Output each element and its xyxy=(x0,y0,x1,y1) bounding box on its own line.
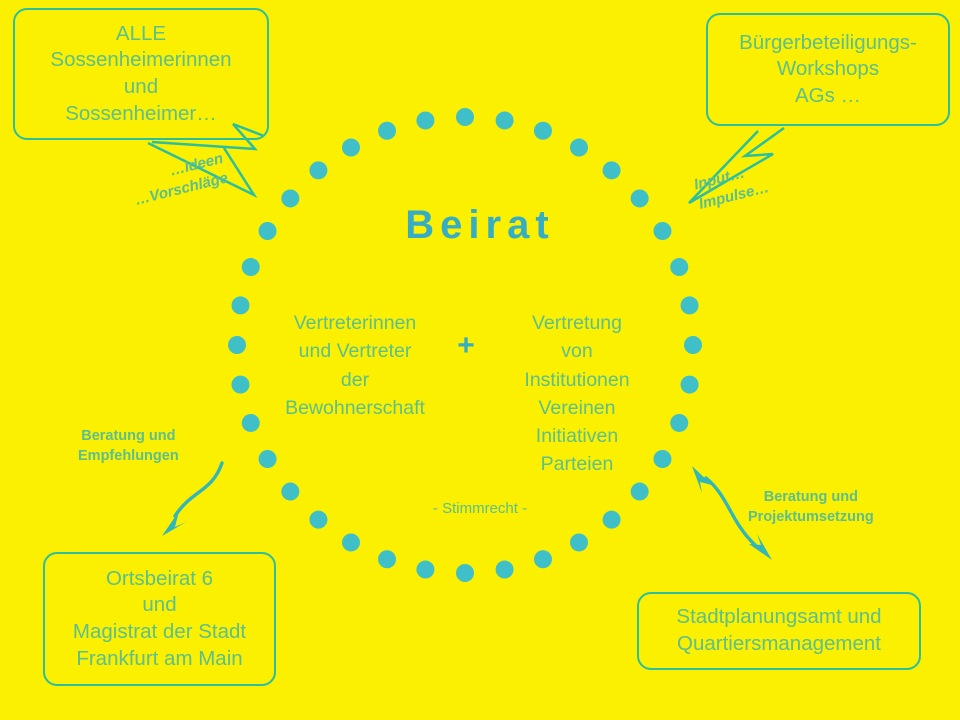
ring-dot xyxy=(378,122,396,140)
ring-dot xyxy=(456,564,474,582)
ring-dot xyxy=(342,139,360,157)
ring-dot xyxy=(281,483,299,501)
label-beratung-projekt-line-1: Beratung und xyxy=(748,488,874,508)
center-right-line-6: Parteien xyxy=(484,450,670,478)
center-right-line-4: Vereinen xyxy=(484,394,670,422)
box-ortsbeirat-line-3: Magistrat der Stadt xyxy=(45,619,274,646)
label-beratung-empfehlungen-line-1: Beratung und xyxy=(78,427,179,447)
label-beratung-empfehlungen: Beratung und Empfehlungen xyxy=(78,427,179,466)
ring-dot xyxy=(496,111,514,129)
center-right-line-5: Initiativen xyxy=(484,422,670,450)
label-beratung-projektumsetzung: Beratung und Projektumsetzung xyxy=(748,488,874,527)
circle-title: Beirat xyxy=(0,203,960,248)
box-stadtplanung-line-1: Stadtplanungsamt und xyxy=(639,604,919,631)
ring-dot xyxy=(456,108,474,126)
center-left-line-3: der xyxy=(262,366,448,394)
ring-dot xyxy=(242,258,260,276)
center-left-line-1: Vertreterinnen xyxy=(262,309,448,337)
ring-dot xyxy=(242,414,260,432)
bubble-citizens-line-2: Sossenheimerinnen xyxy=(15,47,267,74)
bubble-citizens-line-4: Sossenheimer… xyxy=(15,101,267,128)
bubble-citizens-line-3: und xyxy=(15,74,267,101)
ring-dot xyxy=(342,533,360,551)
center-right-line-3: Institutionen xyxy=(484,366,670,394)
beratung-projekt-arrowhead-up xyxy=(692,466,712,493)
diagram-canvas: ALLE Sossenheimerinnen und Sossenheimer…… xyxy=(0,0,960,720)
ring-dot xyxy=(670,258,688,276)
ring-dot xyxy=(684,336,702,354)
ring-dot xyxy=(534,122,552,140)
label-beratung-projekt-line-2: Projektumsetzung xyxy=(748,508,874,528)
ring-dot xyxy=(231,296,249,314)
bubble-workshops[interactable]: Bürgerbeteiligungs- Workshops AGs … xyxy=(706,13,950,126)
annotation-ideen: …Ideen …Vorschläge xyxy=(128,149,230,211)
center-left-line-4: Bewohnerschaft xyxy=(262,394,448,422)
ring-dot xyxy=(670,414,688,432)
ring-dot xyxy=(231,376,249,394)
plus-icon: + xyxy=(452,330,480,362)
center-left-column: Vertreterinnen und Vertreter der Bewohne… xyxy=(262,309,448,422)
bubble-citizens[interactable]: ALLE Sossenheimerinnen und Sossenheimer… xyxy=(13,8,269,140)
box-stadtplanung[interactable]: Stadtplanungsamt und Quartiersmanagement xyxy=(637,592,921,670)
center-right-line-2: von xyxy=(484,337,670,365)
box-ortsbeirat[interactable]: Ortsbeirat 6 und Magistrat der Stadt Fra… xyxy=(43,552,276,686)
center-right-column: Vertretung von Institutionen Vereinen In… xyxy=(484,309,670,479)
label-beratung-empfehlungen-line-2: Empfehlungen xyxy=(78,447,179,467)
ring-dot xyxy=(416,561,434,579)
center-left-line-2: und Vertreter xyxy=(262,337,448,365)
box-stadtplanung-line-2: Quartiersmanagement xyxy=(639,631,919,658)
ring-dot xyxy=(570,139,588,157)
ring-dot xyxy=(570,533,588,551)
bubble-workshops-line-1: Bürgerbeteiligungs- xyxy=(708,30,948,57)
ring-dot xyxy=(603,161,621,179)
box-ortsbeirat-line-4: Frankfurt am Main xyxy=(45,646,274,673)
bubble-workshops-line-3: AGs … xyxy=(708,83,948,110)
beratung-projekt-arrowhead-down xyxy=(749,534,772,560)
bubble-workshops-line-2: Workshops xyxy=(708,56,948,83)
ring-dot xyxy=(631,483,649,501)
bubble-citizens-line-1: ALLE xyxy=(15,21,267,48)
ring-dot xyxy=(228,336,246,354)
ring-dot xyxy=(496,561,514,579)
box-ortsbeirat-line-2: und xyxy=(45,592,274,619)
ring-dot xyxy=(681,296,699,314)
box-ortsbeirat-line-1: Ortsbeirat 6 xyxy=(45,566,274,593)
center-right-line-1: Vertretung xyxy=(484,309,670,337)
ring-dot xyxy=(681,376,699,394)
ring-dot xyxy=(416,111,434,129)
ring-dot xyxy=(309,161,327,179)
ring-dot xyxy=(534,550,552,568)
ring-dot xyxy=(259,450,277,468)
ring-dot xyxy=(378,550,396,568)
